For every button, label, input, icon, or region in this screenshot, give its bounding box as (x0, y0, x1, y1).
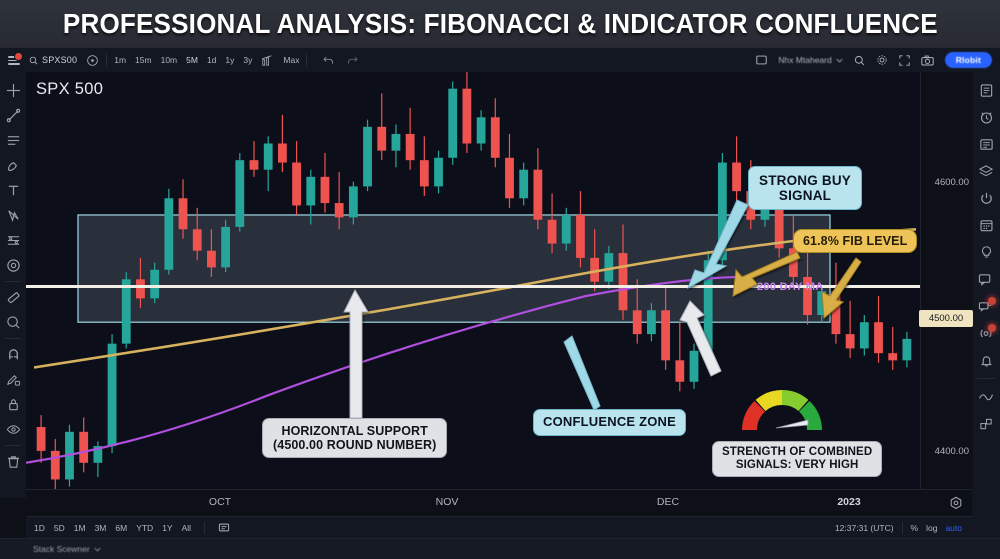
page-title: PROFESSIONAL ANALYSIS: FIBONACCI & INDIC… (63, 8, 938, 40)
candle-body (619, 253, 628, 310)
candle-body (874, 322, 883, 353)
trend-line-icon[interactable] (0, 103, 26, 128)
fib-trendline (34, 229, 916, 367)
candle-body (150, 270, 159, 299)
pattern-icon[interactable] (0, 203, 26, 228)
top-toolbar: SPXS00 1m 15m 10m 5M 1d 1y 3y Max (0, 48, 1000, 73)
candle-body (108, 344, 117, 446)
lock-icon[interactable] (0, 392, 26, 417)
range-1M[interactable]: 1M (74, 523, 86, 533)
undo-redo-group (323, 55, 358, 65)
candle-body (732, 163, 741, 192)
symbol-label: SPXS00 (42, 55, 77, 65)
lightbulb-icon[interactable] (972, 239, 1000, 266)
timeframe-5M[interactable]: 5M (186, 55, 198, 65)
candle-body (221, 227, 230, 268)
broadcast-badge (988, 324, 996, 332)
price-label-current: 4500.00 (919, 310, 973, 327)
candle-body (832, 291, 841, 334)
stream-icon[interactable] (972, 383, 1000, 410)
list-icon[interactable] (972, 77, 1000, 104)
candle-body (718, 163, 727, 261)
menu-badge (14, 52, 23, 61)
gear-icon[interactable] (876, 54, 888, 66)
undo-icon[interactable] (323, 55, 335, 65)
compare-icon[interactable] (86, 54, 99, 67)
candle-body (363, 127, 372, 187)
timeframe-15m[interactable]: 15m (135, 55, 152, 65)
menu-icon[interactable] (6, 53, 22, 67)
tool-divider-3 (5, 445, 21, 446)
stock-screener-label: Stack Scewner (33, 544, 90, 554)
candle-body (704, 260, 713, 351)
annotation-horizontal-support: HORIZONTAL SUPPORT (4500.00 ROUND NUMBER… (262, 418, 447, 458)
toolbar-divider (106, 54, 107, 67)
axis-settings-icon[interactable] (949, 496, 963, 515)
rail-divider (977, 378, 995, 379)
candle-body (250, 160, 259, 170)
candle-body (647, 310, 656, 334)
time-label-0: OCT (209, 496, 231, 508)
search-icon (29, 56, 38, 65)
chat-group-icon[interactable] (972, 293, 1000, 320)
range-5D[interactable]: 5D (54, 523, 65, 533)
candle-body (846, 334, 855, 348)
candle-body (675, 360, 684, 381)
candle-body (817, 291, 826, 315)
toolbar-divider-2 (306, 54, 307, 67)
candle-body (321, 177, 330, 203)
news-icon[interactable] (972, 131, 1000, 158)
timeframe-max[interactable]: Max (283, 55, 299, 65)
broadcast-icon[interactable] (972, 320, 1000, 347)
ruler-icon[interactable] (0, 285, 26, 310)
candle-body (903, 339, 912, 360)
candle-body (335, 203, 344, 217)
candle-body (264, 143, 273, 169)
range-3M[interactable]: 3M (95, 523, 107, 533)
ma-label: 200 DAY MA (757, 281, 824, 293)
fib-retracement-icon[interactable] (0, 228, 26, 253)
layout-icon[interactable] (756, 55, 767, 65)
timeframe-group: 1m 15m 10m 5M 1d 1y 3y Max (114, 55, 299, 66)
candle-body (590, 258, 599, 282)
horizontal-lines-icon[interactable] (0, 128, 26, 153)
toolbar-right-group: Nhx Mtaheard Rlobit (756, 52, 992, 68)
annotation-strong-buy: STRONG BUY SIGNAL (748, 166, 862, 210)
time-zone-icon[interactable] (218, 522, 230, 535)
candle-body (491, 117, 500, 158)
candle-body (179, 198, 188, 229)
candle-body (420, 160, 429, 186)
log-scale-button[interactable]: log (926, 523, 937, 533)
chat-bubble-icon[interactable] (972, 266, 1000, 293)
bottom-toolbar: 1D 5D 1M 3M 6M YTD 1Y All 12:37:31 (UTC)… (26, 516, 972, 539)
camera-icon[interactable] (921, 55, 934, 66)
price-axis[interactable]: 4600.004500.004400.00 (920, 72, 973, 489)
auto-scale-button[interactable]: auto (945, 523, 962, 533)
search-icon-right[interactable] (854, 55, 865, 66)
candle-body (860, 322, 869, 348)
price-label-0: 4600.00 (935, 177, 969, 188)
candle-body (661, 310, 670, 360)
candle-body (789, 248, 798, 277)
power-icon[interactable] (972, 185, 1000, 212)
candle-body (136, 279, 145, 298)
time-label-3: 2023 (837, 496, 860, 508)
candle-body (79, 432, 88, 463)
range-All[interactable]: All (182, 523, 191, 533)
alarm-clock-icon[interactable] (972, 104, 1000, 131)
candle-body (448, 89, 457, 158)
candle-body (349, 186, 358, 217)
trash-icon[interactable] (0, 449, 26, 474)
annotation-fib-level: 61.8% FIB LEVEL (793, 229, 917, 253)
brush-icon[interactable] (0, 153, 26, 178)
candle-body (533, 170, 542, 220)
tool-divider (5, 281, 21, 282)
gauge-needle (776, 420, 808, 428)
candle-body (392, 134, 401, 151)
status-bar: Stack Scewner (0, 538, 1000, 559)
candle-body (235, 160, 244, 227)
price-label-2: 4400.00 (935, 446, 969, 457)
candle-body (576, 215, 585, 258)
left-toolbar (0, 72, 27, 498)
candle-body (690, 351, 699, 382)
time-label-2: DEC (657, 496, 679, 508)
candle-body (37, 427, 46, 451)
strength-gauge (732, 372, 832, 438)
magnifier-icon[interactable] (0, 310, 26, 335)
layers-icon[interactable] (972, 158, 1000, 185)
candle-body (463, 89, 472, 144)
time-label-1: NOV (436, 496, 459, 508)
candle-body (51, 451, 60, 480)
calendar-icon[interactable] (972, 212, 1000, 239)
candle-body (377, 127, 386, 151)
range-1D[interactable]: 1D (34, 523, 45, 533)
pencil-lock-icon[interactable] (0, 367, 26, 392)
redo-icon[interactable] (346, 55, 358, 65)
range-group: 1D 5D 1M 3M 6M YTD 1Y All (34, 522, 230, 535)
clock-label: 12:37:31 (UTC) (835, 523, 894, 533)
crosshair-icon[interactable] (0, 78, 26, 103)
timeframe-3y[interactable]: 3y (243, 55, 252, 65)
text-icon[interactable] (0, 178, 26, 203)
timeframe-10m[interactable]: 10m (161, 55, 178, 65)
candle-body (477, 117, 486, 143)
circle-icon[interactable] (0, 253, 26, 278)
candle-body (278, 143, 287, 162)
candle-body (519, 170, 528, 199)
fullscreen-icon[interactable] (899, 55, 910, 66)
time-axis[interactable]: OCTNOVDEC2023 (26, 489, 972, 517)
bell-icon[interactable] (972, 347, 1000, 374)
title-banner: PROFESSIONAL ANALYSIS: FIBONACCI & INDIC… (0, 0, 1000, 48)
candle-body (122, 279, 131, 343)
eye-icon[interactable] (0, 417, 26, 442)
candle-body (292, 163, 301, 206)
magnet-icon[interactable] (0, 342, 26, 367)
chart-symbol-label: SPX 500 (36, 80, 103, 99)
candle-body (406, 134, 415, 160)
range-1Y[interactable]: 1Y (162, 523, 172, 533)
layout-name[interactable]: Nhx Mtaheard (778, 55, 842, 65)
range-6M[interactable]: 6M (115, 523, 127, 533)
candle-body (604, 253, 613, 282)
range-YTD[interactable]: YTD (136, 523, 153, 533)
chat-group-badge (988, 297, 996, 305)
chart-type-icon[interactable] (261, 55, 274, 66)
stock-screener-item[interactable]: Stack Scewner (33, 544, 101, 554)
annotation-strength: STRENGTH OF COMBINED SIGNALS: VERY HIGH (712, 441, 882, 477)
candle-body (434, 158, 443, 187)
symbol-search[interactable]: SPXS00 (29, 55, 77, 65)
chevron-down-icon (94, 544, 101, 554)
timeframe-1d[interactable]: 1d (207, 55, 216, 65)
chevron-down-icon (836, 55, 843, 65)
candle-body (505, 158, 514, 199)
annotation-confluence-zone: CONFLUENCE ZONE (533, 409, 686, 436)
layout-name-label: Nhx Mtaheard (778, 55, 831, 65)
candle-body (65, 432, 74, 480)
candle-body (207, 251, 216, 268)
candle-body (193, 229, 202, 250)
candle-body (306, 177, 315, 206)
candle-body (164, 198, 173, 269)
tool-divider-2 (5, 338, 21, 339)
timeframe-1m[interactable]: 1m (114, 55, 126, 65)
candle-body (562, 215, 571, 244)
publish-button[interactable]: Rlobit (945, 52, 992, 68)
right-sidebar (971, 72, 1000, 542)
bottom-right-group: 12:37:31 (UTC) % log auto (835, 522, 962, 534)
candle-body (633, 310, 642, 334)
candle-body (93, 446, 102, 463)
percent-scale-button[interactable]: % (911, 523, 919, 533)
confluence-zone-rect (78, 215, 830, 322)
blocks-icon[interactable] (972, 410, 1000, 437)
candle-body (888, 353, 897, 360)
candle-body (548, 220, 557, 244)
timeframe-1y[interactable]: 1y (225, 55, 234, 65)
